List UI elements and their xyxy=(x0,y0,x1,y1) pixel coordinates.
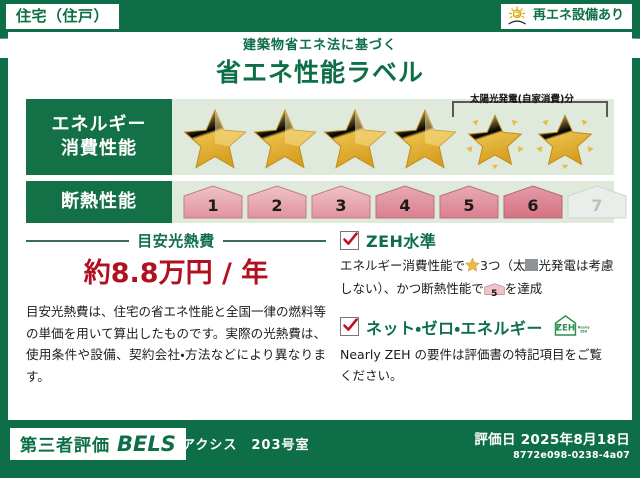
insulation-performance-body: 1 2 3 xyxy=(172,181,628,223)
utility-cost-value: 約8.8万円 / 年 xyxy=(26,259,326,289)
footer-bar: 第三者評価 BELS アクシス 203号室 評価日 2025年8月18日 877… xyxy=(0,420,640,478)
zeh-body-part-a: エネルギー消費性能で xyxy=(340,258,465,273)
net-zero-title: ネット・ゼロ・エネルギー xyxy=(366,315,543,339)
zeh-standard-title: ZEH水準 xyxy=(366,228,436,252)
bels-logo: 第三者評価 BELS xyxy=(10,428,186,460)
net-zero-body: Nearly ZEH の要件は評価書の特記項目をご覧ください。 xyxy=(340,344,614,387)
solar-bracket: 太陽光発電(自家消費)分 xyxy=(452,101,608,117)
insulation-level-label: 5 xyxy=(463,189,474,215)
zeh-standard-body: エネルギー消費性能で3つ（太光発電は考慮しない）、かつ断熱性能で5を達成 xyxy=(340,255,614,300)
inline-house-level: 5 xyxy=(484,283,505,302)
evaluation-date: 評価日 2025年8月18日 xyxy=(474,428,630,448)
insulation-level-7: 7 xyxy=(566,184,628,220)
star-item xyxy=(390,105,460,171)
insulation-level-label: 2 xyxy=(271,189,282,215)
inline-house-icon: 5 xyxy=(484,283,505,298)
renewable-badge-label: 再エネ設備あり xyxy=(533,8,624,24)
star-item xyxy=(180,105,250,171)
inline-star-icon xyxy=(465,257,480,278)
redacted-text xyxy=(525,259,538,271)
check-icon xyxy=(342,231,359,248)
star-icon xyxy=(392,107,458,169)
star-icon xyxy=(322,107,388,169)
zeh-logo-svg: ZEH Nearly ZEH xyxy=(550,313,590,337)
bels-en-label: BELS xyxy=(117,432,176,456)
sun-icon-svg xyxy=(507,6,529,26)
title-block: 建築物省エネ法に基づく 省エネ性能ラベル xyxy=(8,38,632,88)
check-icon xyxy=(342,317,359,334)
insulation-level-2: 2 xyxy=(246,184,308,220)
insulation-level-label: 4 xyxy=(399,189,410,215)
insulation-level-1: 1 xyxy=(182,184,244,220)
energy-label-root: 住宅（住戸） 再エネ設備あり 建築物省エネ法に基 xyxy=(0,0,640,478)
insulation-level-label: 3 xyxy=(335,189,346,215)
zeh-standard-checkbox[interactable] xyxy=(340,231,359,250)
zeh-column: ZEH水準 エネルギー消費性能で3つ（太光発電は考慮しない）、かつ断熱性能で5を… xyxy=(340,228,614,388)
renewable-equipment-badge: 再エネ設備あり xyxy=(501,4,632,29)
label-card: 建築物省エネ法に基づく 省エネ性能ラベル エネルギー 消費性能 xyxy=(8,32,632,420)
evaluation-info: 評価日 2025年8月18日 8772e098-0238-4a07 xyxy=(474,428,630,461)
page-title: 省エネ性能ラベル xyxy=(8,57,632,88)
star-icon xyxy=(182,107,248,169)
star-icon xyxy=(252,107,318,169)
net-zero-check-row: ネット・ゼロ・エネルギー ZEH Nearly ZEH xyxy=(340,313,614,341)
energy-performance-row: エネルギー 消費性能 xyxy=(26,99,614,175)
zeh-standard-check-row: ZEH水準 xyxy=(340,228,614,252)
energy-performance-label-line2: 消費性能 xyxy=(61,137,137,161)
svg-text:ZEH: ZEH xyxy=(556,323,575,333)
insulation-level-label: 6 xyxy=(527,189,538,215)
utility-cost-note: 目安光熱費は、住宅の省エネ性能と全国一律の燃料等の単価を用いて算出したものです。… xyxy=(26,301,326,389)
insulation-level-5: 5 xyxy=(438,184,500,220)
star-item xyxy=(250,105,320,171)
zeh-body-part-d: を達成 xyxy=(505,281,543,296)
insulation-level-3: 3 xyxy=(310,184,372,220)
zeh-body-part-b: 3つ（太 xyxy=(480,258,525,273)
building-type-badge: 住宅（住戸） xyxy=(6,4,119,29)
zeh-standard-block: ZEH水準 エネルギー消費性能で3つ（太光発電は考慮しない）、かつ断熱性能で5を… xyxy=(340,228,614,300)
lower-section: 目安光熱費 約8.8万円 / 年 目安光熱費は、住宅の省エネ性能と全国一律の燃料… xyxy=(26,228,614,388)
insulation-level-label: 1 xyxy=(207,189,218,215)
insulation-level-6: 6 xyxy=(502,184,564,220)
insulation-level-label: 7 xyxy=(591,189,602,215)
sun-icon xyxy=(507,6,529,26)
svg-text:ZEH: ZEH xyxy=(580,329,588,333)
zeh-logo: ZEH Nearly ZEH xyxy=(550,313,590,341)
insulation-scale: 1 2 3 xyxy=(178,181,628,223)
energy-performance-body: 太陽光発電(自家消費)分 xyxy=(172,99,614,175)
utility-cost-column: 目安光熱費 約8.8万円 / 年 目安光熱費は、住宅の省エネ性能と全国一律の燃料… xyxy=(26,228,326,388)
insulation-performance-row: 断熱性能 1 xyxy=(26,181,614,223)
solar-caption: 太陽光発電(自家消費)分 xyxy=(442,91,602,105)
insulation-level-4: 4 xyxy=(374,184,436,220)
property-name: アクシス 203号室 xyxy=(182,434,310,453)
heading-rule-left xyxy=(26,240,129,242)
bels-jp-label: 第三者評価 xyxy=(20,431,110,456)
net-zero-block: ネット・ゼロ・エネルギー ZEH Nearly ZEH Nearly ZEH の… xyxy=(340,313,614,387)
insulation-performance-label: 断熱性能 xyxy=(26,181,172,223)
utility-cost-heading: 目安光熱費 xyxy=(26,230,326,251)
energy-performance-label: エネルギー 消費性能 xyxy=(26,99,172,175)
energy-performance-label-line1: エネルギー xyxy=(52,113,147,137)
title-subtitle: 建築物省エネ法に基づく xyxy=(8,38,632,55)
star-item xyxy=(320,105,390,171)
insulation-label-text: 断熱性能 xyxy=(61,190,137,214)
evaluation-id: 8772e098-0238-4a07 xyxy=(474,450,630,461)
heading-rule-right xyxy=(223,240,326,242)
net-zero-checkbox[interactable] xyxy=(340,317,359,336)
performance-section: エネルギー 消費性能 xyxy=(26,99,614,229)
utility-cost-heading-text: 目安光熱費 xyxy=(137,230,215,251)
